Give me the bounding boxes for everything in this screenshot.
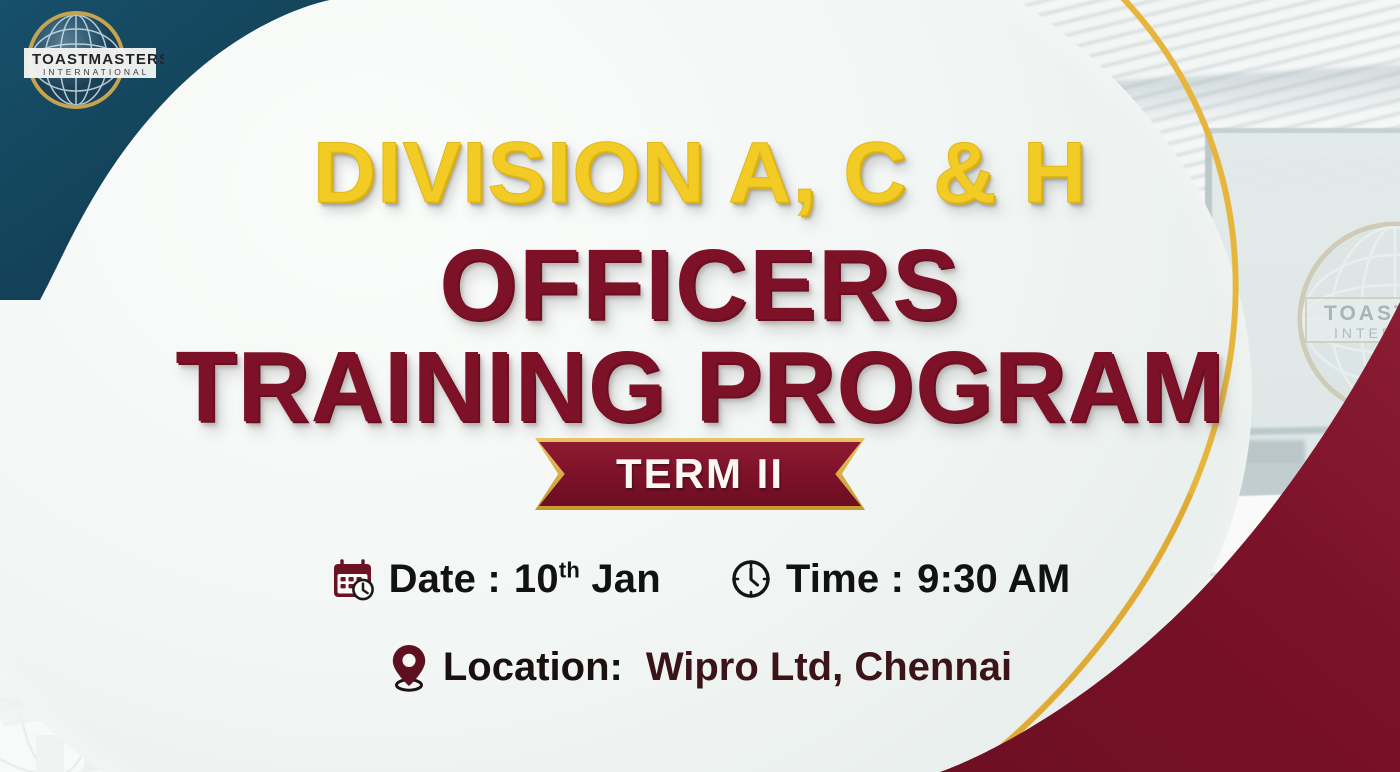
headline-officers: OFFICERS: [0, 228, 1400, 343]
date-month: Jan: [591, 557, 661, 601]
headline-division: DIVISION A, C & H: [0, 124, 1400, 223]
time-value: 9:30 AM: [917, 557, 1070, 602]
date-ordinal: th: [559, 557, 580, 582]
date-value: 10th Jan: [514, 557, 661, 602]
ribbon-label: TERM II: [616, 450, 784, 498]
clock-icon: [729, 557, 773, 601]
ribbon-body: TERM II: [539, 442, 861, 506]
date-time-row: Date : 10th Jan: [0, 556, 1400, 602]
date-item: Date : 10th Jan: [330, 556, 661, 602]
time-item: Time : 9:30 AM: [729, 557, 1071, 602]
location-item: Location: Wipro Ltd, Chennai: [388, 642, 1012, 692]
poster-content: DIVISION A, C & H OFFICERS TRAINING PROG…: [0, 0, 1400, 772]
headline-training: TRAINING PROGRAM: [0, 330, 1400, 445]
map-pin-icon: [388, 642, 430, 692]
location-value: Wipro Ltd, Chennai: [646, 645, 1012, 690]
calendar-clock-icon: [330, 556, 376, 602]
time-label: Time :: [786, 557, 904, 602]
poster-canvas: TOAST INTER: [0, 0, 1400, 772]
location-label: Location:: [443, 645, 623, 690]
date-day: 10: [514, 557, 559, 601]
location-row: Location: Wipro Ltd, Chennai: [0, 642, 1400, 692]
term-ribbon: TERM II: [0, 438, 1400, 510]
date-label: Date :: [389, 557, 501, 602]
